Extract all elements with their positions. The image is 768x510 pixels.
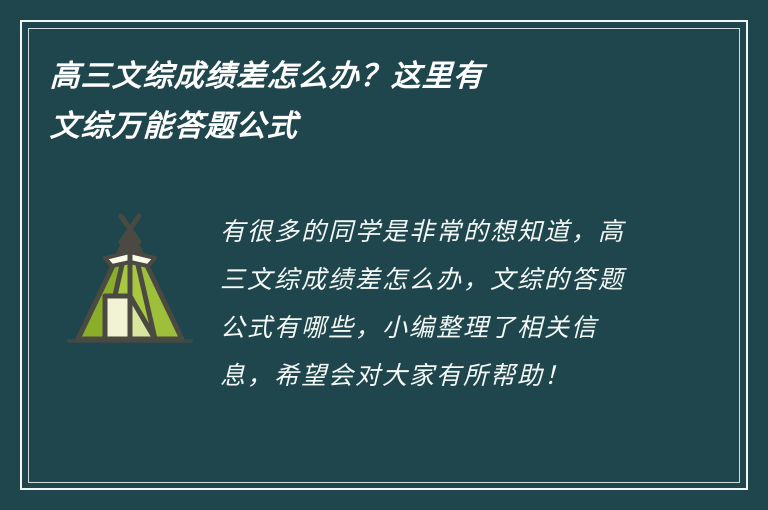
- title-line-1: 高三文综成绩差怎么办？这里有: [49, 52, 691, 102]
- page-title: 高三文综成绩差怎么办？这里有 文综万能答题公式: [50, 52, 690, 152]
- illustration-container: [50, 196, 210, 353]
- teepee-tent-icon: [65, 208, 195, 353]
- article-summary-text: 有很多的同学是非常的想知道，高三文综成绩差怎么办，文综的答题公式有哪些，小编整理…: [210, 196, 640, 400]
- article-header-card: 高三文综成绩差怎么办？这里有 文综万能答题公式: [0, 0, 768, 510]
- content-row: 有很多的同学是非常的想知道，高三文综成绩差怎么办，文综的答题公式有哪些，小编整理…: [50, 196, 718, 460]
- title-line-2: 文综万能答题公式: [49, 102, 691, 152]
